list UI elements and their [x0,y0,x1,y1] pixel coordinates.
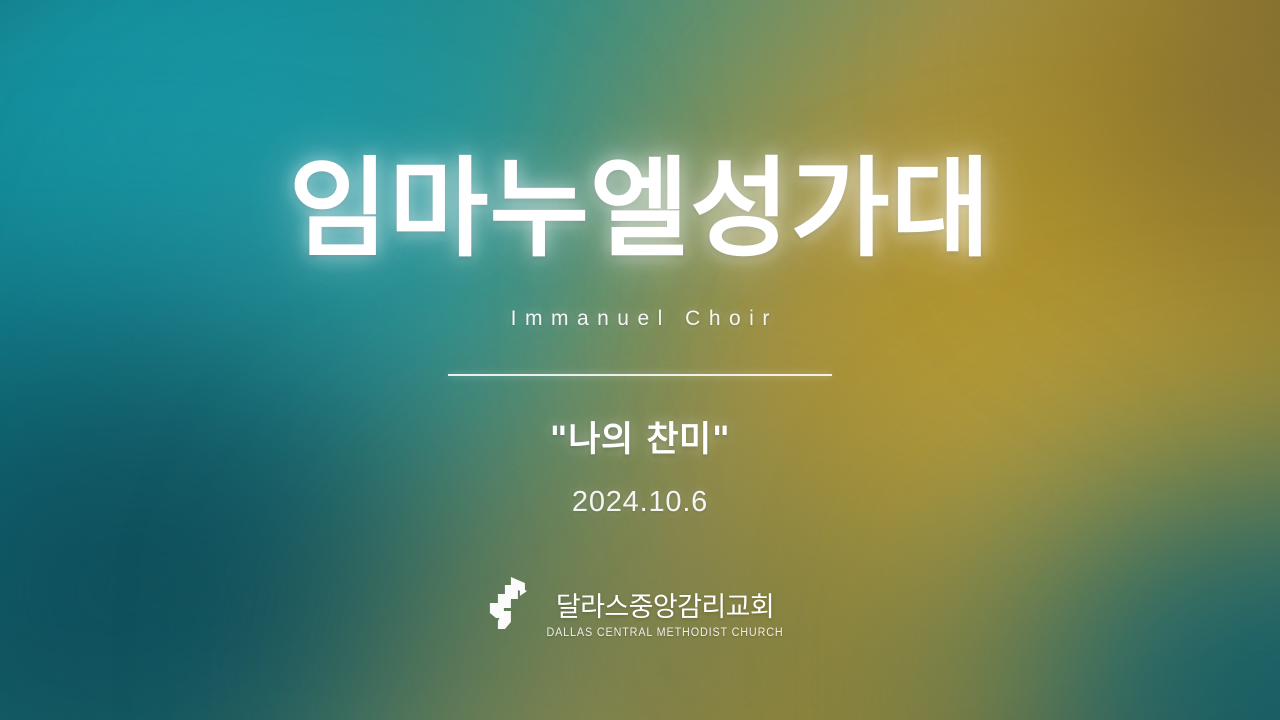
main-title: 임마누엘성가대 [0,150,1280,271]
performance-date: 2024.10.6 [0,486,1280,519]
title-slide: 임마누엘성가대 Immanuel Choir "나의 찬미" 2024.10.6… [0,0,1280,720]
angular-cross-mark-icon [489,577,529,629]
slide-content: 임마누엘성가대 Immanuel Choir "나의 찬미" 2024.10.6… [0,0,1280,720]
church-logo: 달라스중앙감리교회 DALLAS CENTRAL METHODIST CHURC… [489,575,791,639]
church-logo-text: 달라스중앙감리교회 DALLAS CENTRAL METHODIST CHURC… [539,575,791,639]
song-title: "나의 찬미" [0,411,1280,462]
church-name-korean: 달라스중앙감리교회 [556,594,774,621]
church-name-english: DALLAS CENTRAL METHODIST CHURCH [546,627,783,639]
divider-rule [448,374,832,376]
subtitle-english: Immanuel Choir [0,307,1280,331]
